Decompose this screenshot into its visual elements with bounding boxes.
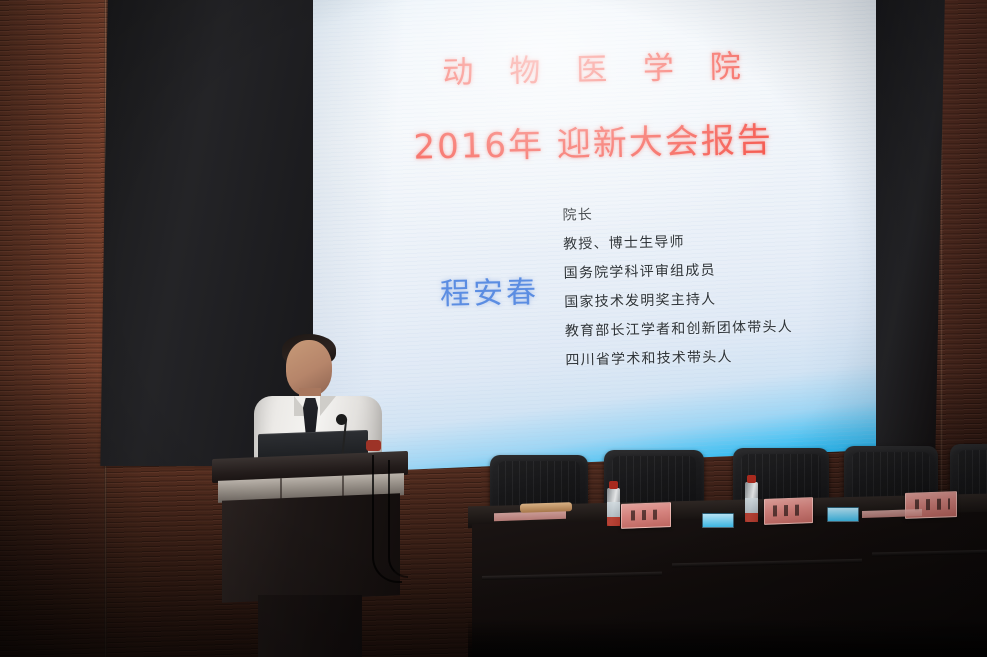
- projection-screen: 动 物 医 学 院 2016年 迎新大会报告 程安春 院长 教授、博士生导师 国…: [310, 0, 878, 472]
- credential-item: 教授、博士生导师: [563, 229, 791, 254]
- presenter-collar-right: [320, 396, 336, 416]
- water-bottle: [607, 488, 620, 526]
- credential-item: 四川省学术和技术带头人: [565, 345, 793, 370]
- gavel: [520, 502, 572, 513]
- red-object-on-podium: [366, 440, 381, 451]
- table-shadow: [468, 618, 987, 657]
- microphone-head: [336, 414, 347, 425]
- presentation-slide: 动 物 医 学 院 2016年 迎新大会报告 程安春 院长 教授、博士生导师 国…: [306, 0, 883, 478]
- credential-item: 国家技术发明奖主持人: [564, 287, 792, 312]
- slide-title-line-1: 动 物 医 学 院: [307, 38, 876, 94]
- slide-speaker-name: 程安春: [440, 267, 540, 313]
- slide-title-line-2: 2016年 迎新大会报告: [309, 110, 878, 170]
- credential-item: 院长: [562, 200, 790, 225]
- table-monitor: [827, 507, 859, 522]
- cable: [388, 460, 408, 578]
- credential-item: 教育部长江学者和创新团体带头人: [565, 316, 793, 341]
- name-card: [621, 502, 671, 529]
- photo-scene: 动 物 医 学 院 2016年 迎新大会报告 程安春 院长 教授、博士生导师 国…: [0, 0, 987, 657]
- water-bottle: [745, 482, 758, 522]
- podium-base: [258, 595, 362, 657]
- table-monitor: [702, 513, 734, 528]
- name-card: [764, 497, 813, 525]
- credential-item: 国务院学科评审组成员: [563, 258, 791, 283]
- slide-credential-list: 院长 教授、博士生导师 国务院学科评审组成员 国家技术发明奖主持人 教育部长江学…: [562, 200, 793, 370]
